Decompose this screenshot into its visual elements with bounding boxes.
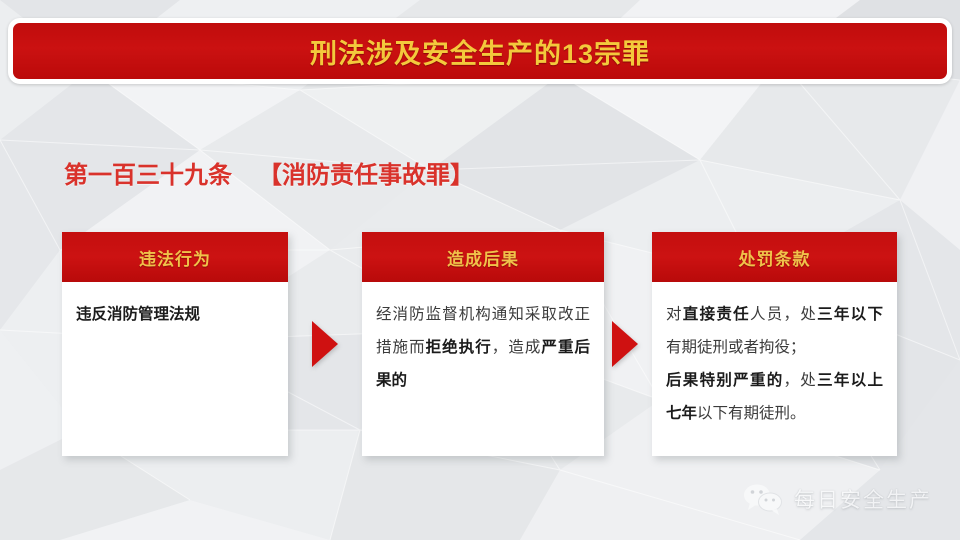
crime-name: 【消防责任事故罪】 <box>258 162 474 189</box>
card-header-label: 造成后果 <box>447 245 519 270</box>
card-body-penalty: 对直接责任人员，处三年以下有期徒刑或者拘役；后果特别严重的，处三年以上七年以下有… <box>652 282 897 440</box>
slide-title-bar: 刑法涉及安全生产的13宗罪 <box>8 18 952 84</box>
arrow-right-icon <box>612 321 638 367</box>
card-penalty: 处罚条款 对直接责任人员，处三年以下有期徒刑或者拘役；后果特别严重的，处三年以上… <box>652 232 897 456</box>
card-header-label: 处罚条款 <box>739 245 811 270</box>
article-subtitle: 第一百三十九条【消防责任事故罪】 <box>64 155 474 190</box>
article-number: 第一百三十九条 <box>64 162 232 189</box>
card-header-penalty: 处罚条款 <box>652 232 897 282</box>
card-consequence: 造成后果 经消防监督机构通知采取改正措施而拒绝执行，造成严重后果的 <box>362 232 604 456</box>
slide-canvas: 刑法涉及安全生产的13宗罪 第一百三十九条【消防责任事故罪】 违法行为 违反消防… <box>0 0 960 540</box>
page-title: 刑法涉及安全生产的13宗罪 <box>310 32 650 71</box>
card-header-illegal-act: 违法行为 <box>62 232 288 282</box>
arrow-right-icon <box>312 321 338 367</box>
watermark-label: 每日安全生产 <box>794 484 932 514</box>
wechat-icon <box>742 482 784 516</box>
watermark: 每日安全生产 <box>742 482 932 516</box>
card-illegal-act: 违法行为 违反消防管理法规 <box>62 232 288 456</box>
card-header-consequence: 造成后果 <box>362 232 604 282</box>
card-body-illegal-act: 违反消防管理法规 <box>62 282 288 341</box>
card-header-label: 违法行为 <box>139 245 211 270</box>
card-body-consequence: 经消防监督机构通知采取改正措施而拒绝执行，造成严重后果的 <box>362 282 604 407</box>
